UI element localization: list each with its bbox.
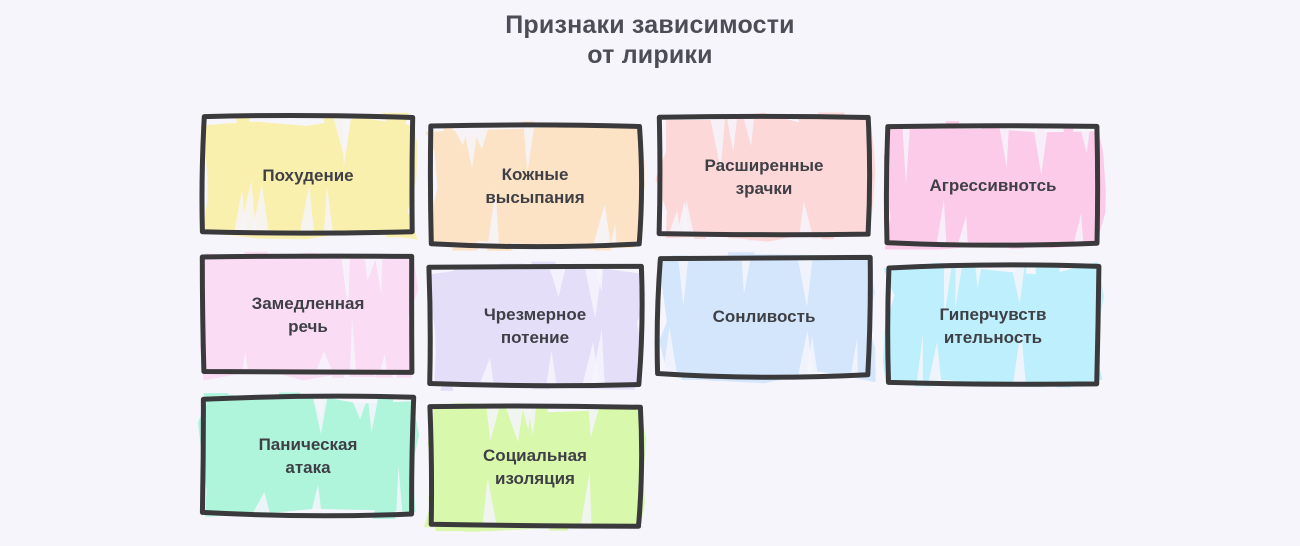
symptom-card-sonlivost[interactable]: Сонливость — [659, 258, 869, 375]
card-shape — [188, 242, 428, 388]
card-fill — [198, 393, 419, 519]
card-fill — [884, 121, 1106, 249]
card-shape — [188, 103, 428, 248]
infographic-canvas: Признаки зависимости от лирики Похудение… — [0, 0, 1300, 546]
card-fill — [425, 121, 645, 251]
symptom-card-agressivnost[interactable]: Агрессивнотсь — [888, 127, 1098, 244]
symptom-card-panicheskaya-ataka[interactable]: Паническая атака — [203, 398, 413, 514]
symptom-card-kozhnye-vysypaniya[interactable]: Кожные высыпания — [430, 127, 640, 245]
card-fill — [430, 262, 646, 391]
card-fill — [200, 252, 418, 381]
card-shape — [415, 112, 655, 260]
card-shape — [873, 252, 1113, 399]
card-shape — [644, 103, 884, 250]
card-fill — [657, 252, 876, 383]
symptom-card-rasshirennye-zrachki[interactable]: Расширенные зрачки — [659, 118, 869, 235]
symptom-card-socialnaya-izolyaciya[interactable]: Социальная изоляция — [430, 408, 640, 526]
symptom-card-chrezmernoe-potenie[interactable]: Чрезмерное потение — [430, 267, 640, 385]
card-shape — [415, 393, 655, 541]
card-fill — [200, 113, 417, 240]
symptom-card-giperchuvstvitelnost[interactable]: Гиперчувств ительность — [888, 267, 1098, 384]
card-fill — [883, 262, 1104, 388]
symptom-card-zamedlennaya-rech[interactable]: Замедленная речь — [203, 257, 413, 373]
symptom-card-pohudenie[interactable]: Похудение — [203, 118, 413, 233]
card-fill — [424, 403, 647, 531]
card-shape — [415, 252, 655, 400]
card-shape — [873, 112, 1113, 259]
card-fill — [655, 113, 875, 242]
page-title: Признаки зависимости от лирики — [0, 10, 1300, 70]
card-shape — [188, 383, 428, 529]
card-shape — [644, 243, 884, 390]
